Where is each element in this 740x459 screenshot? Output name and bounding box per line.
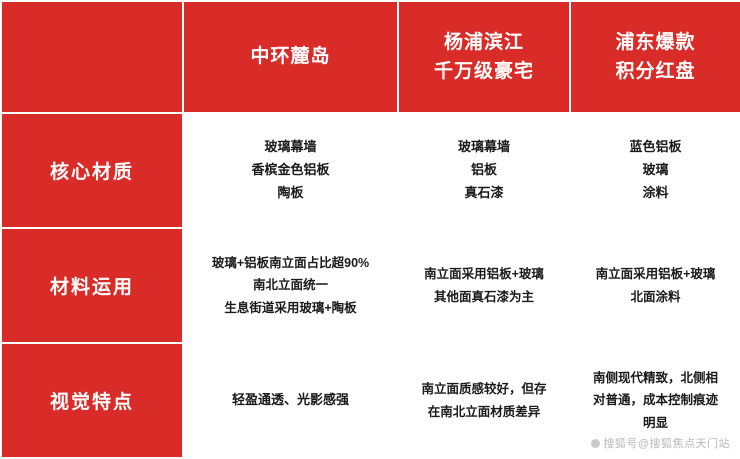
column-header-line: 千万级豪宅 (405, 57, 563, 86)
cell-line: 陶板 (190, 182, 391, 205)
column-header-col-c: 浦东爆款 积分红盘 (570, 1, 740, 113)
row-label-visual-features: 视觉特点 (1, 343, 183, 458)
cell-core-material-col-b: 玻璃幕墙 铝板 真石漆 (398, 113, 570, 228)
column-header-line: 中环麓岛 (190, 42, 391, 71)
cell-line: 南立面质感较好，但存 (405, 378, 563, 401)
cell-core-material-col-a: 玻璃幕墙 香槟金色铝板 陶板 (183, 113, 398, 228)
cell-line: 在南北立面材质差异 (405, 401, 563, 424)
table-row: 视觉特点 轻盈通透、光影感强 南立面质感较好，但存 在南北立面材质差异 南侧现代… (1, 343, 740, 458)
cell-core-material-col-c: 蓝色铝板 玻璃 涂料 (570, 113, 740, 228)
cell-line: 蓝色铝板 (577, 136, 734, 159)
cell-line: 玻璃+铝板南立面占比超90% (190, 252, 391, 275)
cell-material-usage-col-a: 玻璃+铝板南立面占比超90% 南北立面统一 生息街道采用玻璃+陶板 (183, 228, 398, 343)
cell-line: 明显 (577, 412, 734, 435)
cell-line: 生息街道采用玻璃+陶板 (190, 297, 391, 320)
cell-line: 对普通，成本控制痕迹 (577, 389, 734, 412)
column-header-line: 杨浦滨江 (405, 28, 563, 57)
cell-line: 南立面采用铝板+玻璃 (405, 263, 563, 286)
cell-line: 香槟金色铝板 (190, 159, 391, 182)
cell-line: 玻璃 (577, 159, 734, 182)
row-label-material-usage: 材料运用 (1, 228, 183, 343)
cell-line: 玻璃幕墙 (190, 136, 391, 159)
table-row: 材料运用 玻璃+铝板南立面占比超90% 南北立面统一 生息街道采用玻璃+陶板 南… (1, 228, 740, 343)
cell-line: 轻盈通透、光影感强 (190, 389, 391, 412)
cell-line: 真石漆 (405, 182, 563, 205)
cell-visual-features-col-c: 南侧现代精致，北侧相 对普通，成本控制痕迹 明显 (570, 343, 740, 458)
cell-visual-features-col-a: 轻盈通透、光影感强 (183, 343, 398, 458)
column-header-col-a: 中环麓岛 (183, 1, 398, 113)
table-header-row: 中环麓岛 杨浦滨江 千万级豪宅 浦东爆款 积分红盘 (1, 1, 740, 113)
cell-visual-features-col-b: 南立面质感较好，但存 在南北立面材质差异 (398, 343, 570, 458)
cell-line: 铝板 (405, 159, 563, 182)
cell-line: 南侧现代精致，北侧相 (577, 367, 734, 390)
cell-line: 北面涂料 (577, 286, 734, 309)
cell-line: 南立面采用铝板+玻璃 (577, 263, 734, 286)
cell-line: 涂料 (577, 182, 734, 205)
cell-line: 玻璃幕墙 (405, 136, 563, 159)
cell-line: 其他面真石漆为主 (405, 286, 563, 309)
column-header-line: 浦东爆款 (577, 28, 734, 57)
column-header-col-b: 杨浦滨江 千万级豪宅 (398, 1, 570, 113)
cell-material-usage-col-c: 南立面采用铝板+玻璃 北面涂料 (570, 228, 740, 343)
column-header-title: 中环麓岛 (190, 42, 391, 71)
table-corner-cell (1, 1, 183, 113)
table-row: 核心材质 玻璃幕墙 香槟金色铝板 陶板 玻璃幕墙 铝板 真石漆 蓝色铝板 玻璃 … (1, 113, 740, 228)
column-header-title: 浦东爆款 积分红盘 (577, 28, 734, 87)
column-header-line: 积分红盘 (577, 57, 734, 86)
cell-line: 南北立面统一 (190, 274, 391, 297)
row-label-core-material: 核心材质 (1, 113, 183, 228)
comparison-table: 中环麓岛 杨浦滨江 千万级豪宅 浦东爆款 积分红盘 核心材质 玻璃幕墙 香槟金色… (0, 0, 740, 459)
cell-material-usage-col-b: 南立面采用铝板+玻璃 其他面真石漆为主 (398, 228, 570, 343)
column-header-title: 杨浦滨江 千万级豪宅 (405, 28, 563, 87)
